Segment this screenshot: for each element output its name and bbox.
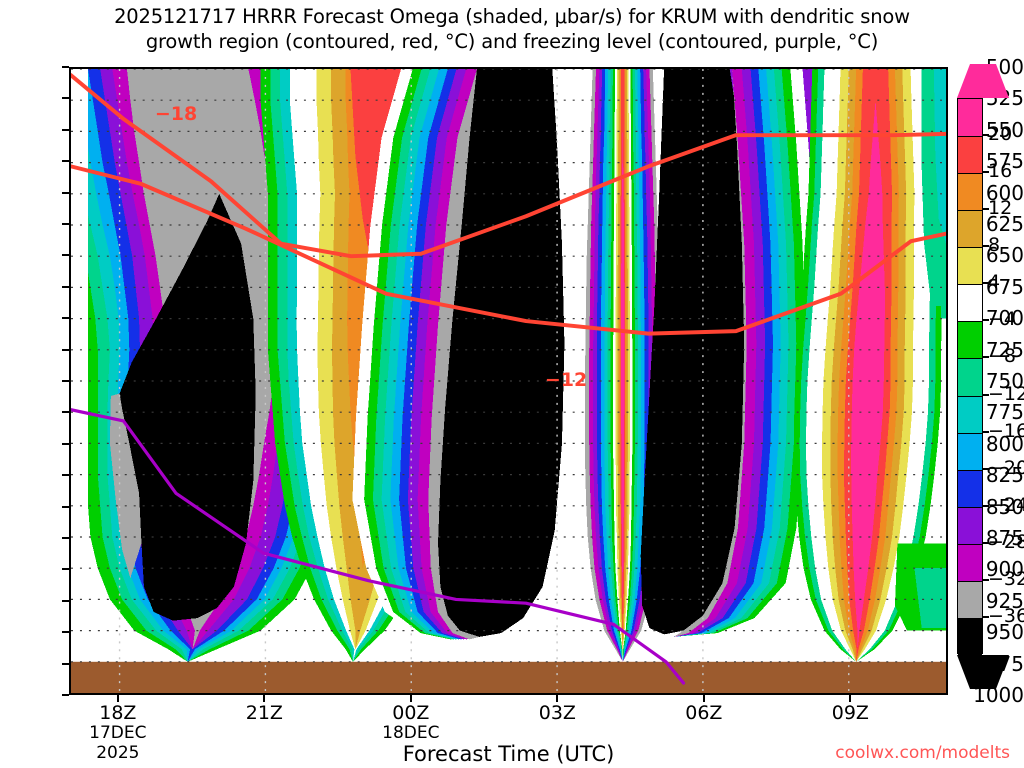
colorbar-tick-label: 16 [988,162,1012,181]
colorbar-tick-label: −16 [988,422,1024,441]
x-tick-date-label: 17DEC [89,722,146,744]
colorbar-tick-mark [983,134,989,136]
credit-watermark: coolwx.com/modelts [835,743,1010,763]
colorbar-swatch [958,136,982,175]
colorbar-tick-mark [983,171,989,173]
y-tick-mark [62,192,69,194]
colorbar-swatch [958,544,982,583]
colorbar-tick-mark [983,356,989,358]
y-tick-mark [62,474,69,476]
y-tick-mark [62,537,69,539]
y-tick-mark [62,160,69,162]
colorbar-swatch [958,581,982,620]
y-tick-mark [62,254,69,256]
y-tick-mark [62,66,69,68]
x-tick-mark [410,695,412,702]
y-tick-mark [62,349,69,351]
y-tick-mark [62,443,69,445]
x-tick-mark [263,695,265,702]
x-tick-date-label: 18DEC [382,722,439,744]
colorbar-tick-label: −36 [988,607,1024,626]
colorbar-tick-mark [983,542,989,544]
colorbar [957,98,983,654]
colorbar-swatch [958,284,982,323]
x-tick-label: 18Z [99,702,136,724]
x-tick-label: 06Z [685,702,722,724]
y-tick-mark [62,663,69,665]
y-tick-mark [62,129,69,131]
colorbar-swatch [958,321,982,360]
colorbar-swatch [958,358,982,397]
contour-label: −18 [155,103,197,125]
colorbar-swatch [958,396,982,435]
colorbar-swatch [958,470,982,509]
colorbar-tick-mark [983,245,989,247]
x-axis-title: Forecast Time (UTC) [69,742,948,766]
colorbar-tick-label: 20 [988,125,1012,144]
y-tick-mark [62,694,69,696]
colorbar-tick-mark [983,319,989,321]
chart-title: 2025121717 HRRR Forecast Omega (shaded, … [0,4,1024,54]
omega-contour-band [71,69,88,637]
colorbar-tick-label: −12 [988,385,1024,404]
colorbar-tick-mark [983,431,989,433]
y-tick-mark [62,631,69,633]
y-tick-mark [62,223,69,225]
colorbar-tick-label: 12 [988,199,1012,218]
colorbar-swatch [958,210,982,249]
colorbar-tick-mark [983,468,989,470]
colorbar-tick-label: 4 [988,273,1000,292]
y-tick-mark [62,568,69,570]
colorbar-tick-mark [983,616,989,618]
x-tick-mark [117,695,119,702]
x-tick-label: 09Z [832,702,869,724]
x-tick-label: 21Z [246,702,283,724]
colorbar-tick-mark [983,208,989,210]
colorbar-tick-label: −4 [988,310,1016,329]
contour-label: −12 [545,369,587,391]
y-tick-mark [62,600,69,602]
plot-area [69,67,948,695]
colorbar-tick-label: −24 [988,496,1024,515]
colorbar-swatch [958,507,982,546]
colorbar-tick-label: −8 [988,347,1016,366]
colorbar-swatch [958,247,982,286]
y-tick-mark [62,380,69,382]
colorbar-tick-label: 8 [988,236,1000,255]
colorbar-tick-mark [983,282,989,284]
y-tick-mark [62,411,69,413]
x-tick-label: 03Z [539,702,576,724]
colorbar-tick-mark [983,579,989,581]
omega-shading [71,69,946,693]
ground-surface [71,662,946,693]
colorbar-tick-mark [983,394,989,396]
y-tick-mark [62,286,69,288]
colorbar-tick-label: −20 [988,459,1024,478]
x-tick-mark [556,695,558,702]
colorbar-swatch [958,433,982,472]
x-tick-label: 00Z [392,702,429,724]
colorbar-extend-bottom [957,655,1009,689]
colorbar-extend-top [957,64,1009,98]
y-tick-mark [62,506,69,508]
chart-page: 2025121717 HRRR Forecast Omega (shaded, … [0,0,1024,768]
colorbar-swatch [958,618,982,657]
colorbar-tick-mark [983,505,989,507]
y-tick-mark [62,317,69,319]
x-tick-mark [849,695,851,702]
colorbar-tick-label: −32 [988,570,1024,589]
colorbar-tick-label: −28 [988,533,1024,552]
colorbar-swatch [958,173,982,212]
y-tick-mark [62,97,69,99]
x-tick-mark [703,695,705,702]
colorbar-swatch [958,99,982,137]
